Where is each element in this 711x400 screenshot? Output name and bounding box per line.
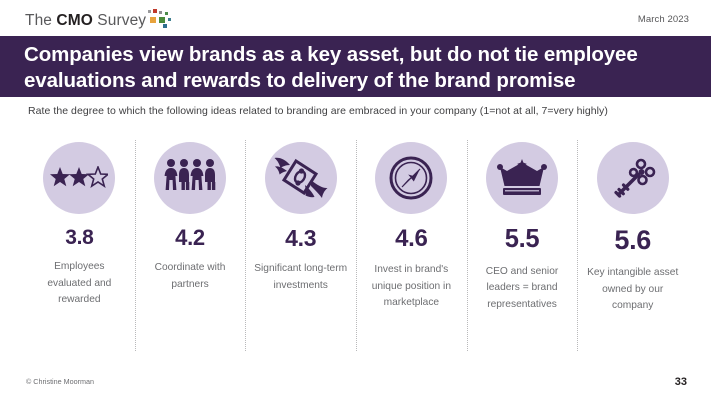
winged-money-icon	[274, 155, 328, 201]
logo-wordmark: The CMO Survey	[25, 13, 146, 29]
metric-columns: 3.8 Employees evaluated and rewarded	[24, 138, 688, 353]
page-number: 33	[675, 376, 687, 388]
compass-icon	[388, 155, 434, 201]
metric-caption: CEO and senior leaders = brand represent…	[474, 264, 570, 314]
icon-circle	[486, 142, 558, 214]
slide-date: March 2023	[638, 14, 689, 25]
logo-suffix: Survey	[93, 12, 146, 29]
icon-circle	[265, 142, 337, 214]
metric-column-employees-evaluated: 3.8 Employees evaluated and rewarded	[24, 138, 135, 353]
metric-caption: Employees evaluated and rewarded	[31, 259, 127, 309]
metric-value: 5.6	[614, 227, 651, 254]
cmo-survey-logo: The CMO Survey	[25, 9, 173, 28]
metric-value: 4.6	[395, 227, 427, 251]
icon-circle	[375, 142, 447, 214]
metric-column-ceo-brand-representatives: 5.5 CEO and senior leaders = brand repre…	[467, 138, 578, 353]
icon-circle	[154, 142, 226, 214]
metric-value: 4.3	[285, 227, 316, 250]
two-and-a-half-stars-icon	[50, 166, 108, 190]
metric-column-key-intangible-asset: 5.6 Key intangible asset owned by our co…	[577, 138, 688, 353]
crown-icon	[497, 157, 547, 199]
title-banner: Companies view brands as a key asset, bu…	[0, 36, 711, 97]
group-of-people-icon	[164, 158, 216, 198]
page-title: Companies view brands as a key asset, bu…	[24, 42, 689, 94]
icon-circle	[597, 142, 669, 214]
logo-prefix: The	[25, 12, 56, 29]
metric-column-brand-position: 4.6 Invest in brand's unique position in…	[356, 138, 467, 353]
icon-circle	[43, 142, 115, 214]
metric-caption: Key intangible asset owned by our compan…	[585, 265, 681, 315]
metric-caption: Invest in brand's unique position in mar…	[363, 262, 459, 312]
metric-caption: Significant long-term investments	[253, 261, 349, 294]
slide-header: The CMO Survey March 2023	[0, 0, 711, 36]
metric-caption: Coordinate with partners	[142, 260, 238, 293]
metric-value: 3.8	[65, 227, 93, 248]
metric-value: 5.5	[505, 227, 540, 253]
copyright-notice: © Christine Moorman	[26, 377, 94, 386]
metric-column-coordinate-partners: 4.2 Coordinate with partners	[135, 138, 246, 353]
metric-column-long-term-investments: 4.3 Significant long-term investments	[245, 138, 356, 353]
cmo-survey-dots-logo-icon	[147, 9, 173, 27]
metric-value: 4.2	[175, 227, 205, 249]
key-icon	[610, 155, 656, 201]
logo-bold: CMO	[56, 12, 92, 29]
question-subtitle: Rate the degree to which the following i…	[28, 105, 608, 117]
